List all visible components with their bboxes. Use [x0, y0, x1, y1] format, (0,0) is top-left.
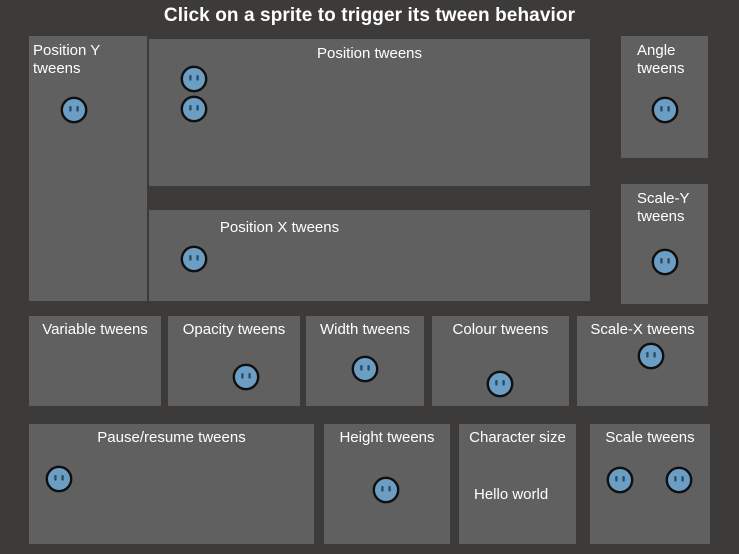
- sprite-face-icon[interactable]: [180, 245, 208, 273]
- panel-opacity-tweens: Opacity tweens: [168, 316, 300, 406]
- sprite-face-icon[interactable]: [351, 355, 379, 383]
- sprite-face-icon[interactable]: [60, 96, 88, 124]
- panel-position-x-tweens: Position X tweensTimer: 0: [149, 210, 590, 301]
- sprite-face-icon[interactable]: [180, 95, 208, 123]
- character-size-text: Hello world: [474, 486, 548, 504]
- sprite-face-icon[interactable]: [232, 363, 260, 391]
- panel-label-pause-resume-tweens: Pause/resume tweens: [29, 429, 314, 447]
- sprite-face-icon[interactable]: [45, 465, 73, 493]
- panel-label-scale-tweens: Scale tweens: [590, 429, 710, 447]
- panel-label-position-x-tweens: Position X tweens: [59, 219, 500, 237]
- panel-label-character-size: Character size: [459, 429, 576, 447]
- panel-label-variable-tweens: Variable tweens: [29, 321, 161, 339]
- panel-label-width-tweens: Width tweens: [306, 321, 424, 339]
- sprite-face-icon[interactable]: [665, 466, 693, 494]
- panel-position-y-tweens: Position Y tweens: [29, 36, 147, 301]
- sprite-face-icon[interactable]: [372, 476, 400, 504]
- panel-label-position-tweens: Position tweens: [149, 45, 590, 63]
- panel-label-colour-tweens: Colour tweens: [432, 321, 569, 339]
- tween-demo-canvas: Click on a sprite to trigger its tween b…: [0, 0, 739, 554]
- page-title: Click on a sprite to trigger its tween b…: [0, 5, 739, 27]
- panel-label-scale-x-tweens: Scale-X tweens: [577, 321, 708, 339]
- sprite-face-icon[interactable]: [637, 342, 665, 370]
- sprite-face-icon[interactable]: [606, 466, 634, 494]
- panel-label-angle-tweens: Angle tweens: [633, 42, 685, 78]
- sprite-face-icon[interactable]: [486, 370, 514, 398]
- sprite-face-icon[interactable]: [651, 248, 679, 276]
- sprite-face-icon[interactable]: [651, 96, 679, 124]
- panel-label-height-tweens: Height tweens: [324, 429, 450, 447]
- panel-label-scale-y-tweens: Scale-Y tweens: [633, 190, 690, 226]
- panel-position-tweens: Position tweens: [149, 39, 590, 186]
- panel-label-opacity-tweens: Opacity tweens: [168, 321, 300, 339]
- panel-variable-tweens: Variable tweens00: [29, 316, 161, 406]
- panel-character-size: Character sizeHello world: [459, 424, 576, 544]
- sprite-face-icon[interactable]: [180, 65, 208, 93]
- panel-label-position-y-tweens: Position Y tweens: [29, 42, 100, 78]
- panel-scale-y-tweens: Scale-Y tweens: [621, 184, 708, 304]
